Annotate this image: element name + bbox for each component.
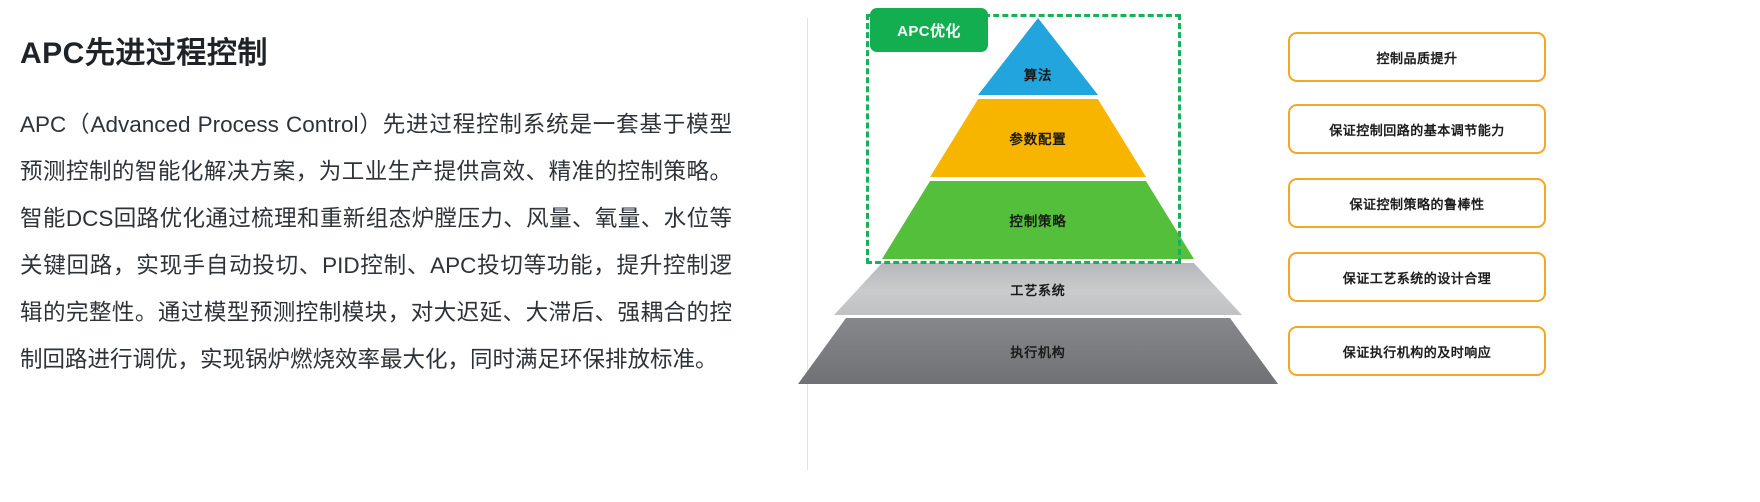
callout-box-process-design[interactable]: 保证工艺系统的设计合理 xyxy=(1288,252,1546,302)
callout-label: 保证执行机构的及时响应 xyxy=(1343,342,1492,361)
description-paragraph: APC（Advanced Process Control）先进过程控制系统是一套… xyxy=(20,101,732,383)
callout-list: 控制品质提升 保证控制回路的基本调节能力 保证控制策略的鲁棒性 保证工艺系统的设… xyxy=(1288,0,1760,502)
apc-optimization-badge: APC优化 xyxy=(870,8,988,52)
pyramid-layer-actuator[interactable]: 执行机构 xyxy=(798,318,1278,384)
page-title: APC先进过程控制 xyxy=(20,28,268,72)
callout-box-strategy-robustness[interactable]: 保证控制策略的鲁棒性 xyxy=(1288,178,1546,228)
text-panel: APC先进过程控制 APC（Advanced Process Control）先… xyxy=(0,0,808,502)
callout-label: 控制品质提升 xyxy=(1376,48,1457,67)
pyramid-layer-label: 执行机构 xyxy=(1010,342,1065,361)
pyramid-stage: 算法 参数配置 控制策略 工艺系统 执行机构 APC优化 xyxy=(808,0,1268,400)
callout-label: 保证控制策略的鲁棒性 xyxy=(1349,194,1484,213)
callout-box-actuator-response[interactable]: 保证执行机构的及时响应 xyxy=(1288,326,1546,376)
callout-box-control-quality[interactable]: 控制品质提升 xyxy=(1288,32,1546,82)
callout-label: 保证控制回路的基本调节能力 xyxy=(1329,120,1505,139)
apc-badge-label: APC优化 xyxy=(897,20,961,41)
pyramid-layer-label: 工艺系统 xyxy=(1010,280,1065,299)
pyramid-layer-process-system[interactable]: 工艺系统 xyxy=(834,263,1242,315)
callout-label: 保证工艺系统的设计合理 xyxy=(1343,268,1492,287)
callout-box-loop-regulation[interactable]: 保证控制回路的基本调节能力 xyxy=(1288,104,1546,154)
pyramid-diagram: 算法 参数配置 控制策略 工艺系统 执行机构 APC优化 xyxy=(808,0,1268,502)
